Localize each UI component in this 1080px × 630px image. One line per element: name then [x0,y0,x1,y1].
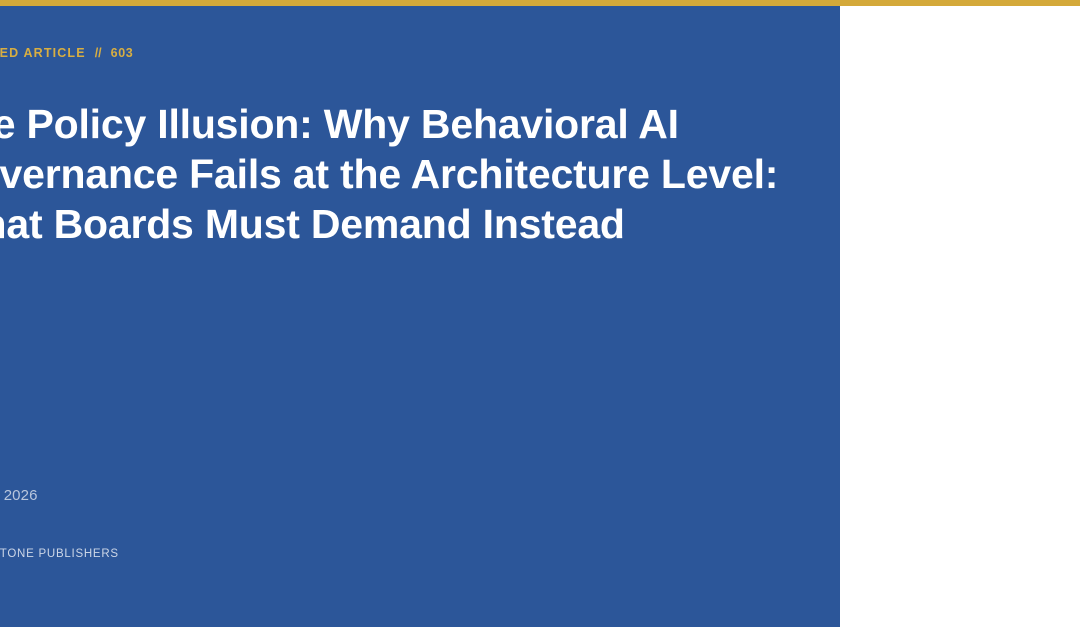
publication-date: April 19, 2026 [0,487,38,504]
eyebrow-label: FEATURED ARTICLE [0,46,86,60]
headline-line-2: Governance Fails at the Architecture Lev… [0,149,743,199]
article-cover-page: FEATURED ARTICLE // 603 The Policy Illus… [0,0,1080,630]
eyebrow-separator-icon: // [95,46,102,60]
article-headline: The Policy Illusion: Why Behavioral AI G… [0,99,743,249]
right-gutter [840,6,1080,630]
eyebrow-article-number: 603 [111,46,134,60]
headline-line-3: What Boards Must Demand Instead [0,199,743,249]
headline-line-1: The Policy Illusion: Why Behavioral AI [0,99,743,149]
publisher-imprint: TOUCH STONE PUBLISHERS [0,548,119,560]
hero-content: FEATURED ARTICLE // 603 The Policy Illus… [0,6,840,627]
hero-panel: FEATURED ARTICLE // 603 The Policy Illus… [0,6,840,627]
eyebrow-kicker: FEATURED ARTICLE // 603 [0,46,133,60]
